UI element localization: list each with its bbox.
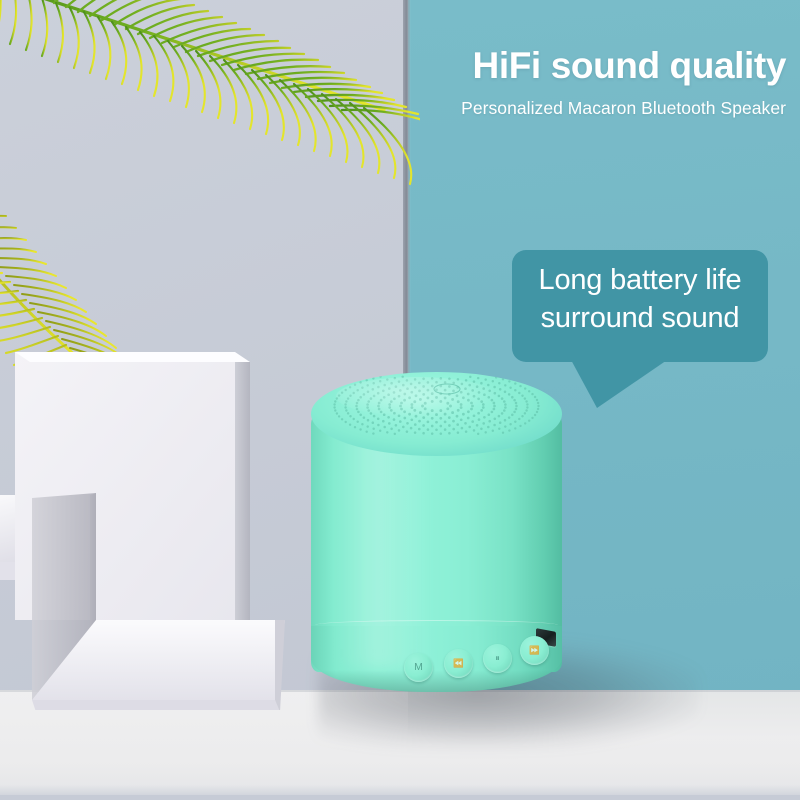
play-pause-button[interactable]: ⏸ bbox=[483, 644, 512, 673]
callout-bubble-tail bbox=[560, 358, 680, 410]
bluetooth-speaker-product: M ⏪ ⏸ ⏩ bbox=[311, 372, 562, 692]
speaker-top-sheen bbox=[336, 377, 497, 416]
mode-button-label: M bbox=[414, 662, 423, 673]
headline-block: HiFi sound quality Personalized Macaron … bbox=[406, 46, 786, 119]
speaker-top-grille bbox=[311, 372, 562, 456]
speaker-base-shading bbox=[311, 670, 562, 692]
bottom-color-band bbox=[0, 795, 800, 800]
page-subtitle: Personalized Macaron Bluetooth Speaker bbox=[406, 98, 786, 119]
white-geometric-blocks bbox=[0, 330, 330, 710]
product-advertisement-banner: HiFi sound quality Personalized Macaron … bbox=[0, 0, 800, 800]
play-pause-icon: ⏸ bbox=[495, 654, 500, 663]
callout-bubble: Long battery life surround sound bbox=[512, 250, 768, 362]
forward-icon: ⏩ bbox=[529, 646, 540, 655]
previous-track-button[interactable]: ⏪ bbox=[444, 649, 473, 678]
rewind-icon: ⏪ bbox=[453, 659, 464, 668]
mode-button[interactable]: M bbox=[404, 653, 433, 682]
page-title: HiFi sound quality bbox=[406, 46, 786, 85]
callout-text: Long battery life surround sound bbox=[526, 262, 754, 337]
next-track-button[interactable]: ⏩ bbox=[520, 636, 549, 665]
